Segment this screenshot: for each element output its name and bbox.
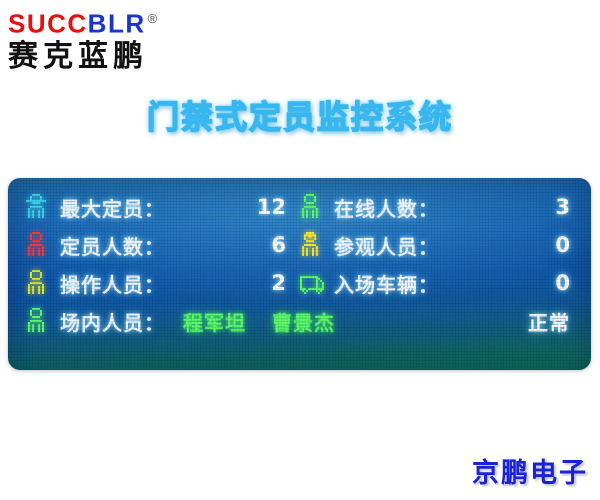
led-row-operators: 操作人员： 2 <box>24 264 292 302</box>
led-left-column: 最大定员： 12 <box>24 188 292 302</box>
screenshot-root: SUCCBLR® 赛克蓝鹏 门禁式定员监控系统 <box>0 0 600 500</box>
led-row-onsite-personnel: 场内人员： 程军坦 曹景杰 正常 <box>24 302 576 340</box>
status-badge: 正常 <box>528 307 576 336</box>
led-label-online-count: 在线人数： <box>334 193 550 222</box>
logo-latin-text: SUCCBLR® <box>8 4 218 39</box>
led-label-visitors: 参观人员： <box>334 231 550 260</box>
person-helmet-icon <box>298 229 334 261</box>
logo-text-succ: SUCC <box>8 9 88 39</box>
person-icon <box>24 267 60 299</box>
led-row-vehicles: 入场车辆： 0 <box>298 264 576 302</box>
person-icon <box>24 229 60 261</box>
truck-icon <box>298 267 334 299</box>
logo-chinese-text: 赛克蓝鹏 <box>8 40 218 74</box>
led-value-staff-quota: 6 <box>266 233 292 257</box>
person-icon <box>298 191 334 223</box>
footer-brand: 京鹏电子 <box>472 451 588 490</box>
led-label-staff-quota: 定员人数： <box>60 231 266 260</box>
led-label-max-capacity: 最大定员： <box>60 193 257 222</box>
led-label-operators: 操作人员： <box>60 269 266 298</box>
person-icon <box>24 305 60 337</box>
led-label-onsite-personnel: 场内人员： <box>60 307 165 336</box>
list-item: 程军坦 <box>183 307 246 336</box>
company-logo: SUCCBLR® 赛克蓝鹏 <box>8 4 218 70</box>
page-title: 门禁式定员监控系统 <box>0 92 600 138</box>
led-row-max-capacity: 最大定员： 12 <box>24 188 292 226</box>
led-value-online-count: 3 <box>550 195 576 219</box>
led-right-column: 在线人数： 3 <box>298 188 576 302</box>
led-value-visitors: 0 <box>550 233 576 257</box>
person-helmet-icon <box>24 191 60 223</box>
led-label-vehicles: 入场车辆： <box>334 269 550 298</box>
led-row-staff-quota: 定员人数： 6 <box>24 226 292 264</box>
onsite-personnel-names: 程军坦 曹景杰 <box>165 307 528 336</box>
list-item: 曹景杰 <box>272 307 335 336</box>
led-value-operators: 2 <box>266 271 292 295</box>
led-display-panel: 最大定员： 12 <box>8 178 591 370</box>
led-row-visitors: 参观人员： 0 <box>298 226 576 264</box>
led-value-max-capacity: 12 <box>257 195 292 219</box>
led-row-online-count: 在线人数： 3 <box>298 188 576 226</box>
led-panel-content: 最大定员： 12 <box>8 178 591 370</box>
led-value-vehicles: 0 <box>550 271 576 295</box>
logo-text-blr: BLR <box>88 9 146 39</box>
registered-trademark-icon: ® <box>148 11 158 26</box>
